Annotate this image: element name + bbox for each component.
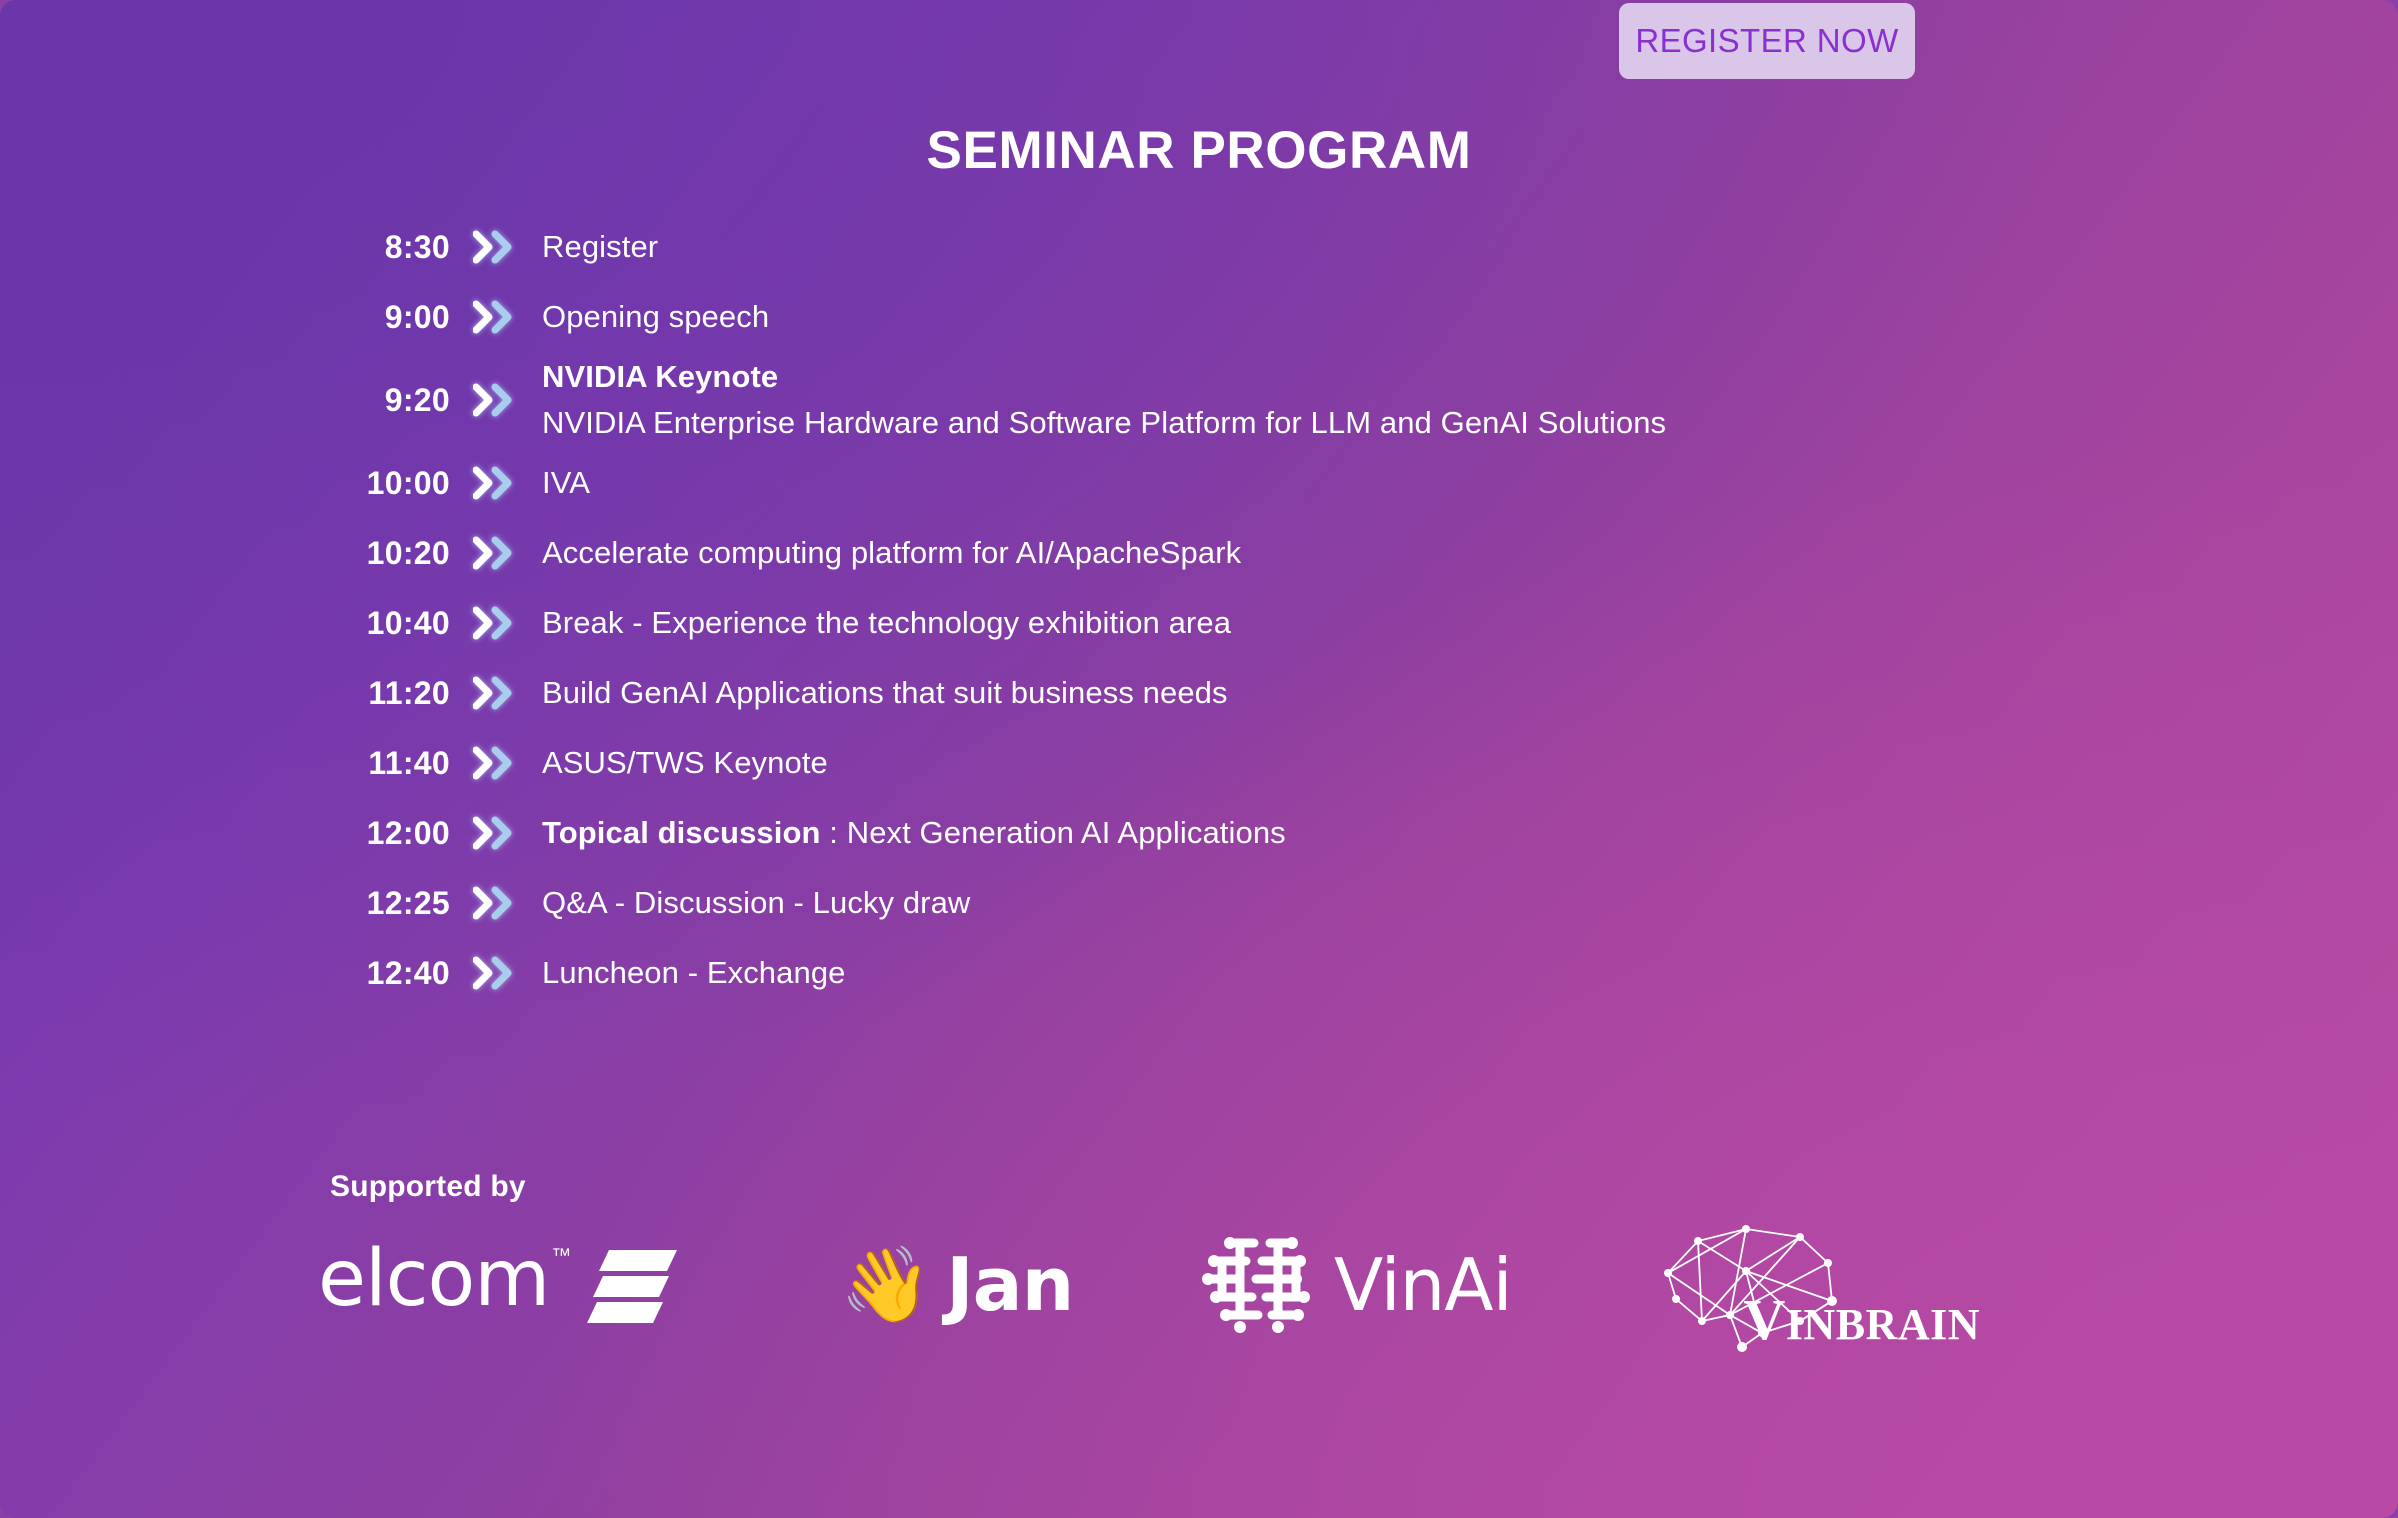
agenda-row-time: 12:25 — [0, 885, 450, 922]
double-chevron-icon — [450, 886, 526, 920]
agenda-row-time: 10:40 — [0, 605, 450, 642]
agenda-row-body: Luncheon - Exchange — [526, 953, 1700, 993]
double-chevron-icon — [450, 383, 526, 417]
agenda-row-body: NVIDIA KeynoteNVIDIA Enterprise Hardware… — [526, 357, 1700, 443]
logo-vinbrain: VINBRAIN — [1640, 1215, 2060, 1355]
double-chevron-icon — [450, 230, 526, 264]
agenda-row: 8:30Register — [0, 212, 1700, 282]
double-chevron-icon — [450, 300, 526, 334]
agenda-row: 10:40Break - Experience the technology e… — [0, 588, 1700, 658]
agenda-row-body: Break - Experience the technology exhibi… — [526, 603, 1700, 643]
elcom-e-mark-icon — [583, 1246, 679, 1331]
agenda-row-time: 10:00 — [0, 465, 450, 502]
agenda-row-title: Break - Experience the technology exhibi… — [542, 603, 1700, 643]
agenda-row-time: 11:40 — [0, 745, 450, 782]
agenda-row-title-lead: Topical discussion — [542, 815, 821, 850]
agenda-row-title: IVA — [542, 463, 1700, 503]
page-title: SEMINAR PROGRAM — [0, 120, 2398, 181]
double-chevron-icon — [450, 816, 526, 850]
agenda-row-title: Topical discussion : Next Generation AI … — [542, 813, 1700, 853]
agenda-row: 12:25Q&A - Discussion - Lucky draw — [0, 868, 1700, 938]
double-chevron-icon — [450, 536, 526, 570]
jan-wordmark: Jan — [946, 1248, 1073, 1322]
vinai-wordmark: VinAi — [1334, 1249, 1512, 1321]
agenda-row-time: 10:20 — [0, 535, 450, 572]
waving-hand-icon: 👋 — [840, 1248, 932, 1322]
agenda-row-title: Q&A - Discussion - Lucky draw — [542, 883, 1700, 923]
agenda-row-title: Register — [542, 227, 1700, 267]
double-chevron-icon — [450, 606, 526, 640]
vinai-circuit-mark-icon — [1200, 1227, 1318, 1344]
vinbrain-rest: INBRAIN — [1786, 1300, 1980, 1349]
logo-vinai: VinAi — [1170, 1227, 1640, 1344]
agenda-row-title: Opening speech — [542, 297, 1700, 337]
agenda-row-title: Build GenAI Applications that suit busin… — [542, 673, 1700, 713]
agenda-row-subtitle: NVIDIA Enterprise Hardware and Software … — [542, 403, 1700, 443]
agenda-row-body: Accelerate computing platform for AI/Apa… — [526, 533, 1700, 573]
sponsor-logos: elcom ™ 👋 Jan — [310, 1215, 2210, 1355]
agenda-row-body: Opening speech — [526, 297, 1700, 337]
agenda-row: 9:00Opening speech — [0, 282, 1700, 352]
vinbrain-initial: V — [1743, 1287, 1785, 1352]
agenda-row-time: 8:30 — [0, 229, 450, 266]
agenda-row-title: ASUS/TWS Keynote — [542, 743, 1700, 783]
double-chevron-icon — [450, 466, 526, 500]
elcom-wordmark: elcom — [318, 1240, 549, 1318]
agenda-row-title: Accelerate computing platform for AI/Apa… — [542, 533, 1700, 573]
agenda-row: 10:20Accelerate computing platform for A… — [0, 518, 1700, 588]
agenda-row-time: 9:00 — [0, 299, 450, 336]
agenda-row-body: Topical discussion : Next Generation AI … — [526, 813, 1700, 853]
agenda-row-title: Luncheon - Exchange — [542, 953, 1700, 993]
agenda-row-time: 9:20 — [0, 382, 450, 419]
agenda-row-body: IVA — [526, 463, 1700, 503]
trademark-icon: ™ — [551, 1246, 571, 1266]
agenda-row-time: 12:40 — [0, 955, 450, 992]
double-chevron-icon — [450, 746, 526, 780]
agenda-row-body: ASUS/TWS Keynote — [526, 743, 1700, 783]
agenda-row-time: 12:00 — [0, 815, 450, 852]
agenda-row-body: Build GenAI Applications that suit busin… — [526, 673, 1700, 713]
logo-jan: 👋 Jan — [730, 1248, 1170, 1322]
supported-by-label: Supported by — [330, 1170, 526, 1204]
agenda-row: 9:20NVIDIA KeynoteNVIDIA Enterprise Hard… — [0, 352, 1700, 448]
register-now-button[interactable]: REGISTER NOW — [1619, 3, 1915, 79]
double-chevron-icon — [450, 956, 526, 990]
agenda-row-body: Register — [526, 227, 1700, 267]
agenda-row-time: 11:20 — [0, 675, 450, 712]
agenda-row: 10:00IVA — [0, 448, 1700, 518]
agenda-row: 11:40ASUS/TWS Keynote — [0, 728, 1700, 798]
agenda-row: 11:20Build GenAI Applications that suit … — [0, 658, 1700, 728]
logo-elcom: elcom ™ — [310, 1240, 730, 1331]
seminar-program-slide: REGISTER NOW SEMINAR PROGRAM 8:30Registe… — [0, 0, 2398, 1518]
agenda-row: 12:40Luncheon - Exchange — [0, 938, 1700, 1008]
agenda-row-title-rest: : Next Generation AI Applications — [821, 815, 1286, 850]
agenda-row-body: Q&A - Discussion - Lucky draw — [526, 883, 1700, 923]
agenda-row: 12:00Topical discussion : Next Generatio… — [0, 798, 1700, 868]
agenda-list: 8:30Register9:00Opening speech9:20NVIDIA… — [0, 212, 1700, 1008]
vinbrain-wordmark: VINBRAIN — [1743, 1291, 1980, 1349]
double-chevron-icon — [450, 676, 526, 710]
agenda-row-title: NVIDIA Keynote — [542, 357, 1700, 397]
